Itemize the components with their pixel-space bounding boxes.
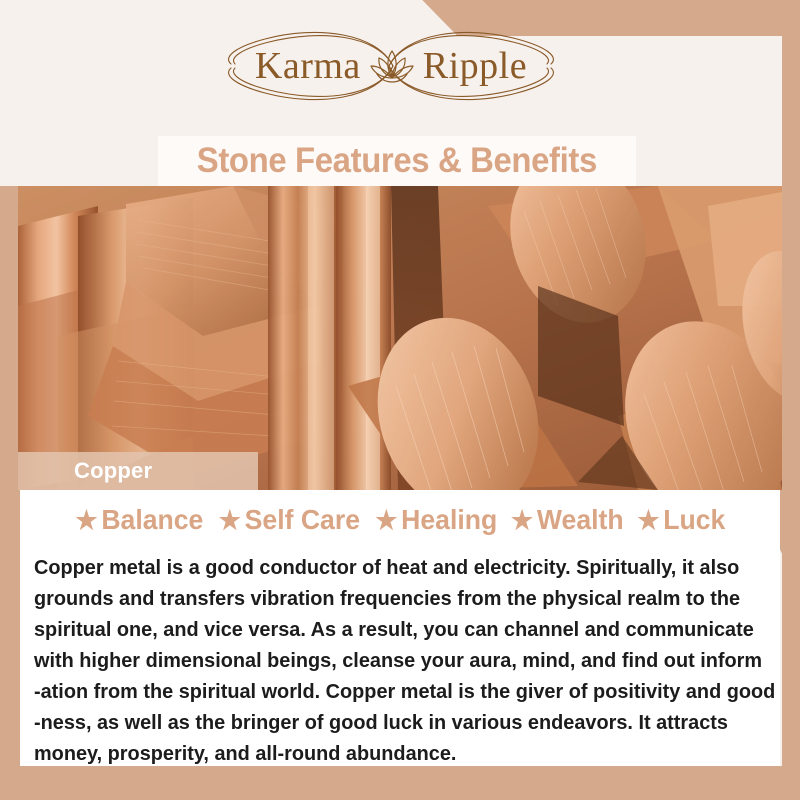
keyword-list: ★Balance★Self Care★Healing★Wealth★Luck — [20, 506, 780, 534]
keyword-item-wealth: ★Wealth — [511, 506, 624, 534]
logo-text-group: Karma Ripple — [211, 47, 571, 85]
copper-photo — [18, 186, 782, 490]
keyword-label: Healing — [401, 506, 497, 534]
brand-header: Karma Ripple — [0, 0, 782, 132]
poster-root: Karma Ripple Stone Features & Benefits — [0, 0, 800, 800]
description-line: Copper metal is a good conductor of heat… — [34, 552, 748, 583]
logo-word-karma: Karma — [255, 47, 361, 85]
star-icon: ★ — [219, 507, 241, 533]
lotus-icon — [369, 47, 415, 85]
description-line: money, prosperity, and all-round abundan… — [34, 738, 748, 769]
content-card: ★Balance★Self Care★Healing★Wealth★Luck C… — [20, 490, 780, 766]
tan-bottom-band — [0, 766, 800, 800]
star-icon: ★ — [637, 507, 659, 533]
photo-caption-text: Copper — [74, 458, 152, 484]
keyword-label: Balance — [102, 506, 204, 534]
star-icon: ★ — [511, 507, 533, 533]
keyword-label: Self Care — [245, 506, 360, 534]
tan-left-accent — [0, 186, 20, 766]
keyword-item-self-care: ★Self Care — [219, 506, 360, 534]
star-icon: ★ — [375, 507, 397, 533]
keyword-item-balance: ★Balance — [76, 506, 204, 534]
keyword-item-healing: ★Healing — [375, 506, 497, 534]
description-line: grounds and transfers vibration frequenc… — [34, 583, 748, 614]
description-line: with higher dimensional beings, cleanse … — [34, 645, 748, 676]
title-banner: Stone Features & Benefits — [158, 136, 636, 186]
brand-logo: Karma Ripple — [211, 23, 571, 109]
keyword-item-luck: ★Luck — [637, 506, 725, 534]
description-line: -ation from the spiritual world. Copper … — [34, 676, 748, 707]
photo-caption-banner: Copper — [18, 452, 258, 490]
page-title: Stone Features & Benefits — [197, 141, 597, 181]
description-text: Copper metal is a good conductor of heat… — [34, 552, 748, 769]
keyword-label: Luck — [663, 506, 725, 534]
star-icon: ★ — [76, 507, 98, 533]
description-line: spiritual one, and vice versa. As a resu… — [34, 614, 748, 645]
logo-word-ripple: Ripple — [423, 47, 527, 85]
description-line: -ness, as well as the bringer of good lu… — [34, 707, 748, 738]
keyword-label: Wealth — [537, 506, 624, 534]
copper-bars-illustration — [18, 186, 782, 490]
